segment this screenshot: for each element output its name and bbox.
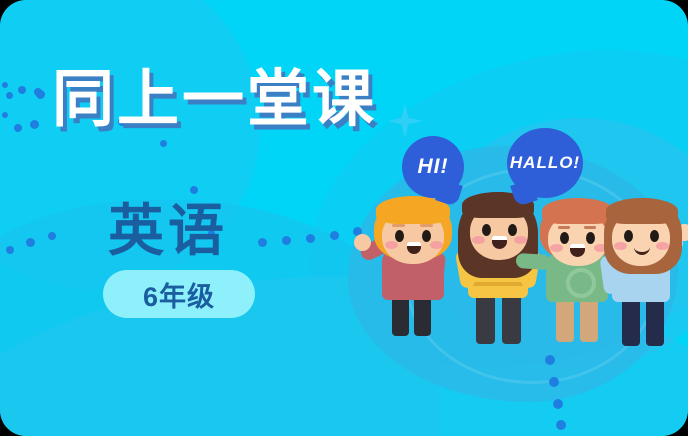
blush [430, 241, 443, 249]
dot [549, 377, 559, 387]
dot [2, 82, 8, 88]
shirt-logo [566, 268, 596, 298]
leg [556, 296, 574, 342]
speech-bubble-hi: HI! [402, 136, 464, 198]
blush [614, 242, 627, 250]
eyebrow [584, 226, 596, 229]
eye [586, 232, 595, 244]
dot [160, 140, 167, 147]
leg [502, 292, 521, 344]
grade-badge-label: 6年级 [143, 275, 215, 314]
course-cover-card: 同上一堂课 英语 6年级 [0, 0, 688, 436]
speech-bubble-hallo: HALLO! [507, 128, 583, 198]
blush [514, 236, 527, 244]
eye [482, 224, 491, 236]
dot [306, 234, 315, 243]
leg [646, 296, 664, 346]
blush [656, 242, 669, 250]
eye [650, 230, 659, 242]
dot [2, 112, 8, 118]
blush [385, 241, 398, 249]
leg [476, 292, 495, 344]
dot [282, 236, 291, 245]
hair-fringe [606, 198, 678, 224]
subject-label: 英语 [108, 186, 228, 267]
eyebrow [392, 224, 405, 227]
leg [622, 296, 640, 346]
eye [624, 230, 633, 242]
eyebrow [420, 224, 433, 227]
blush [550, 244, 563, 252]
blush [472, 236, 485, 244]
dot [6, 92, 13, 99]
child-waving-light-blue-shirt [600, 196, 688, 351]
eyebrow [558, 226, 570, 229]
shirt-stripe [468, 282, 528, 286]
dot [48, 232, 56, 240]
eye [422, 230, 431, 242]
dot [34, 88, 42, 96]
dot [330, 231, 339, 240]
grade-badge: 6年级 [103, 270, 255, 318]
arm [516, 253, 551, 270]
dot [258, 238, 267, 247]
dot [30, 120, 39, 129]
eye [395, 230, 404, 242]
dot [545, 355, 555, 365]
dot [26, 238, 35, 247]
dot [18, 86, 26, 94]
hand [354, 234, 371, 251]
dot [6, 246, 14, 254]
dot [14, 124, 22, 132]
dot [556, 420, 566, 430]
speech-bubble-hallo-text: HALLO! [510, 153, 580, 173]
speech-bubble-hi-text: HI! [418, 155, 449, 179]
leg [580, 296, 598, 342]
page-title: 同上一堂课 [52, 48, 377, 138]
eye [560, 232, 569, 244]
eye [508, 224, 517, 236]
dot [553, 399, 563, 409]
